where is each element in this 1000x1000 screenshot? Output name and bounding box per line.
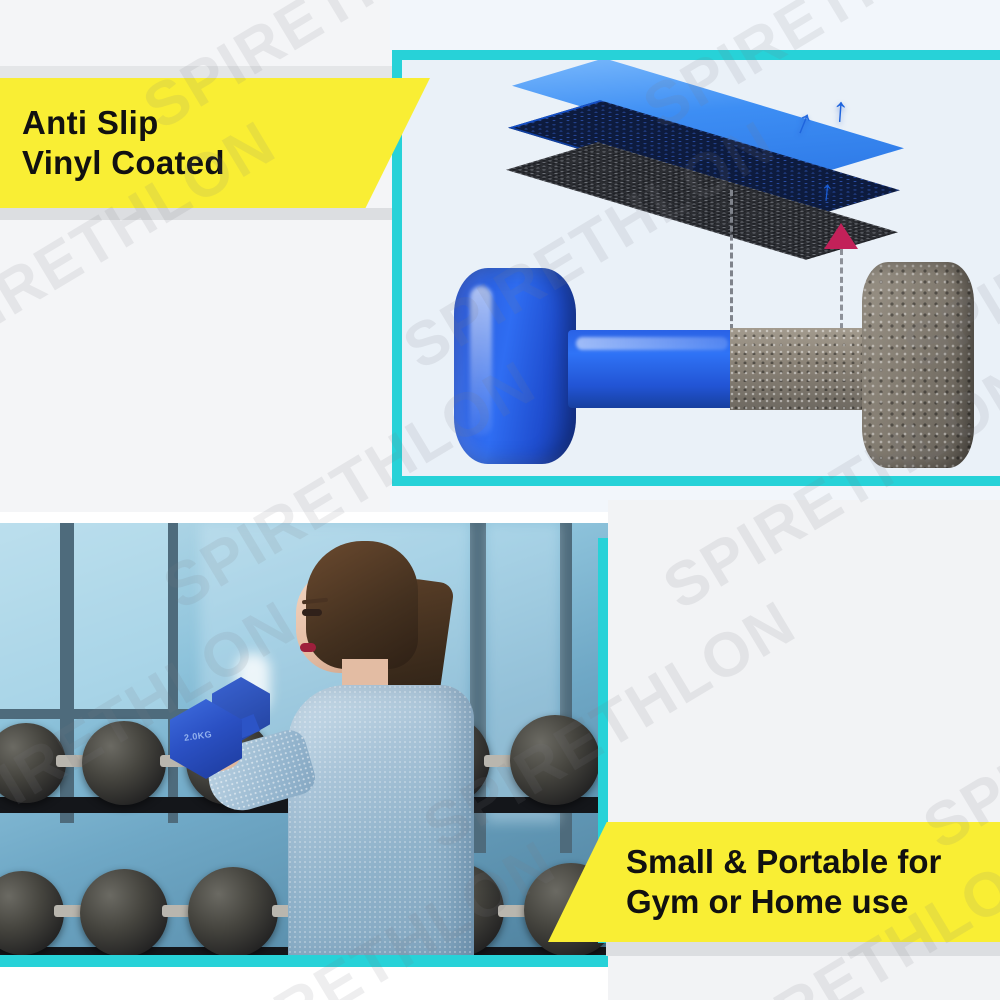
dumbbell-bare-head: [862, 262, 974, 468]
rack-dumbbell: [80, 869, 168, 957]
rack-dumbbell: [510, 715, 600, 805]
athletic-jacket: [288, 685, 474, 965]
material-layers-diagram: ↑ ↑ ↑: [552, 65, 882, 250]
held-hex-dumbbell: 2.0KG: [170, 693, 290, 777]
window-pane: [74, 523, 168, 709]
top-feature-section: ↑ ↑ ↑ Anti Slip Vinyl Coated: [0, 0, 1000, 512]
hair: [306, 541, 418, 669]
window-pane: [0, 523, 60, 709]
headline-banner-top: Anti Slip Vinyl Coated: [0, 78, 430, 208]
product-panel-inner: ↑ ↑ ↑: [402, 60, 1000, 476]
layer-cast-iron-core: [552, 155, 852, 247]
up-arrow-icon: ↑: [819, 176, 836, 205]
product-marketing-image: ↑ ↑ ↑ Anti Slip Vinyl Coated: [0, 0, 1000, 1000]
lifestyle-photo: 2.0KG: [0, 523, 608, 965]
up-arrow-icon: ↑: [831, 92, 850, 127]
model-figure: 2.0KG: [250, 533, 510, 965]
pointer-triangle-icon: [824, 223, 858, 249]
headline-banner-bottom: Small & Portable for Gym or Home use: [548, 822, 1000, 942]
dumbbell-coated-handle: [568, 330, 734, 408]
dumbbell-comparison-illustration: [444, 260, 974, 470]
dumbbell-coated-head: [454, 268, 576, 464]
banner-grey-shadow-strip: [0, 208, 392, 220]
gym-scene: 2.0KG: [0, 523, 608, 965]
headline-line-2: Vinyl Coated: [22, 143, 430, 183]
headline-line-1: Small & Portable for: [626, 842, 1000, 882]
dumbbell-bare-handle: [730, 328, 870, 410]
photo-teal-bottom-border: [0, 955, 608, 967]
eye: [302, 609, 322, 616]
headline-line-2: Gym or Home use: [626, 882, 1000, 922]
lips: [300, 643, 316, 652]
rack-dumbbell: [82, 721, 166, 805]
product-panel-frame: ↑ ↑ ↑: [392, 50, 1000, 486]
split-dashed-line: [730, 190, 733, 330]
bottom-banner-grey-strip: [606, 942, 1000, 956]
headline-line-1: Anti Slip: [22, 103, 430, 143]
top-grey-accent-strip: [0, 66, 392, 78]
